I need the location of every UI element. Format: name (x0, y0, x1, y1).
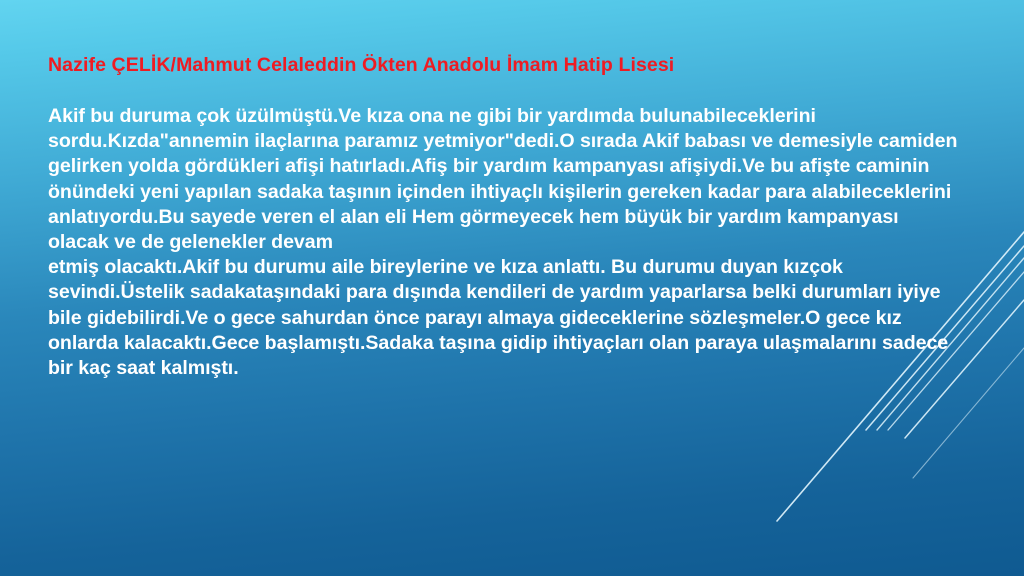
slide-title: Nazife ÇELİK/Mahmut Celaleddin Ökten Ana… (48, 53, 968, 77)
slide-text-content: Nazife ÇELİK/Mahmut Celaleddin Ökten Ana… (0, 0, 1024, 576)
slide-body-text: Akif bu duruma çok üzülmüştü.Ve kıza ona… (48, 104, 964, 381)
presentation-slide: Nazife ÇELİK/Mahmut Celaleddin Ökten Ana… (0, 0, 1024, 576)
body-paragraph-2: etmiş olacaktı.Akif bu durumu aile birey… (48, 255, 964, 381)
body-paragraph-1: Akif bu duruma çok üzülmüştü.Ve kıza ona… (48, 104, 964, 255)
